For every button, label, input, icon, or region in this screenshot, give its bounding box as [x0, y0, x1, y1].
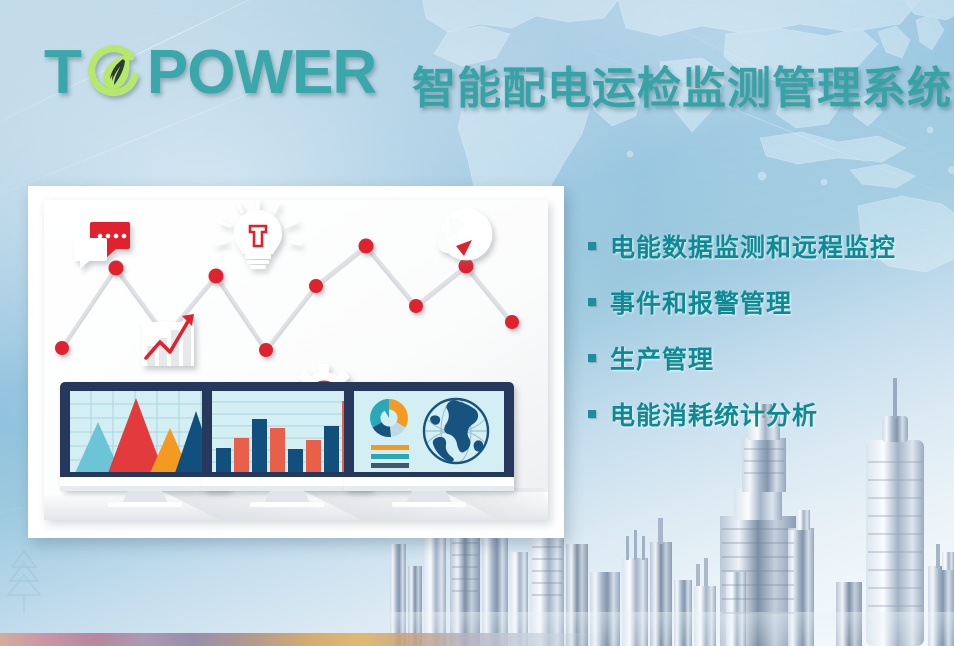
brand-logo: T POWER [44, 42, 376, 104]
bottom-warm-strip [0, 633, 600, 646]
logo-word-power: POWER [147, 42, 376, 104]
bullet-square-icon [588, 242, 596, 250]
bullet-square-icon [588, 410, 596, 418]
list-item[interactable]: 事件和报警管理 [588, 284, 896, 320]
list-item[interactable]: 生产管理 [588, 340, 896, 376]
list-item[interactable]: 电能数据监测和远程监控 [588, 228, 896, 264]
bullet-square-icon [588, 298, 596, 306]
page-title: 智能配电运检监测管理系统 [412, 52, 952, 116]
bullet-square-icon [588, 354, 596, 362]
feature-label: 事件和报警管理 [610, 284, 792, 320]
logo-letter-t: T [44, 42, 81, 104]
feature-label: 电能消耗统计分析 [610, 396, 818, 432]
feature-label: 电能数据监测和远程监控 [610, 228, 896, 264]
feature-label: 生产管理 [610, 340, 714, 376]
feature-list: 电能数据监测和远程监控 事件和报警管理 生产管理 电能消耗统计分析 [588, 228, 896, 452]
poster-stage: T POWER [0, 0, 954, 646]
illustration-panel [44, 200, 548, 520]
list-item[interactable]: 电能消耗统计分析 [588, 396, 896, 432]
illustration-frame [28, 186, 564, 538]
leaf-in-circle-icon [83, 42, 145, 104]
tree-watermark-icon [4, 545, 44, 615]
